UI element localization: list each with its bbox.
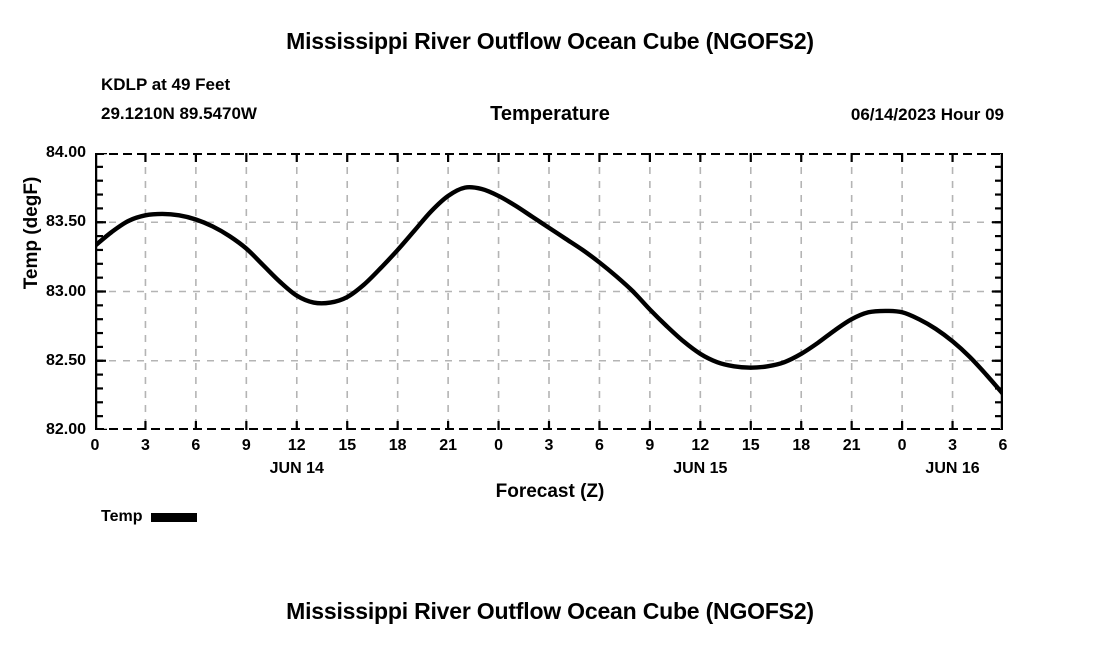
y-tick-label: 83.00 bbox=[46, 283, 86, 301]
x-tick-label: 9 bbox=[242, 437, 251, 455]
x-tick-label: 12 bbox=[288, 437, 306, 455]
x-tick-label: 6 bbox=[191, 437, 200, 455]
x-tick-label: 0 bbox=[494, 437, 503, 455]
x-axis-label: Forecast (Z) bbox=[0, 481, 1100, 503]
x-tick-label: 3 bbox=[545, 437, 554, 455]
y-axis-label: Temp (degF) bbox=[21, 153, 43, 313]
x-tick-label: 0 bbox=[898, 437, 907, 455]
x-tick-label: 0 bbox=[91, 437, 100, 455]
legend-label: Temp bbox=[101, 508, 142, 526]
chart-page: Mississippi River Outflow Ocean Cube (NG… bbox=[0, 0, 1100, 650]
y-tick-label: 82.00 bbox=[46, 421, 86, 439]
x-tick-label: 12 bbox=[691, 437, 709, 455]
y-tick-label: 83.50 bbox=[46, 213, 86, 231]
temperature-line-chart bbox=[95, 153, 1003, 430]
x-tick-label: 3 bbox=[948, 437, 957, 455]
x-tick-label: 18 bbox=[389, 437, 407, 455]
y-tick-label: 82.50 bbox=[46, 352, 86, 370]
legend-line-swatch bbox=[151, 513, 197, 522]
legend: Temp bbox=[101, 508, 197, 526]
x-tick-label: 18 bbox=[792, 437, 810, 455]
plot-area bbox=[95, 153, 1003, 430]
x-tick-label: 6 bbox=[999, 437, 1008, 455]
page-title-bottom: Mississippi River Outflow Ocean Cube (NG… bbox=[0, 598, 1100, 625]
x-tick-label: 15 bbox=[742, 437, 760, 455]
x-tick-label: 15 bbox=[338, 437, 356, 455]
x-tick-label: 9 bbox=[645, 437, 654, 455]
x-day-label: JUN 15 bbox=[673, 460, 727, 478]
model-run-time: 06/14/2023 Hour 09 bbox=[851, 105, 1004, 125]
station-label: KDLP at 49 Feet bbox=[101, 75, 230, 95]
page-title-top: Mississippi River Outflow Ocean Cube (NG… bbox=[0, 28, 1100, 55]
x-tick-label: 3 bbox=[141, 437, 150, 455]
x-tick-label: 6 bbox=[595, 437, 604, 455]
x-tick-label: 21 bbox=[439, 437, 457, 455]
x-tick-label: 21 bbox=[843, 437, 861, 455]
x-day-label: JUN 16 bbox=[925, 460, 979, 478]
x-day-label: JUN 14 bbox=[270, 460, 324, 478]
y-tick-label: 84.00 bbox=[46, 144, 86, 162]
